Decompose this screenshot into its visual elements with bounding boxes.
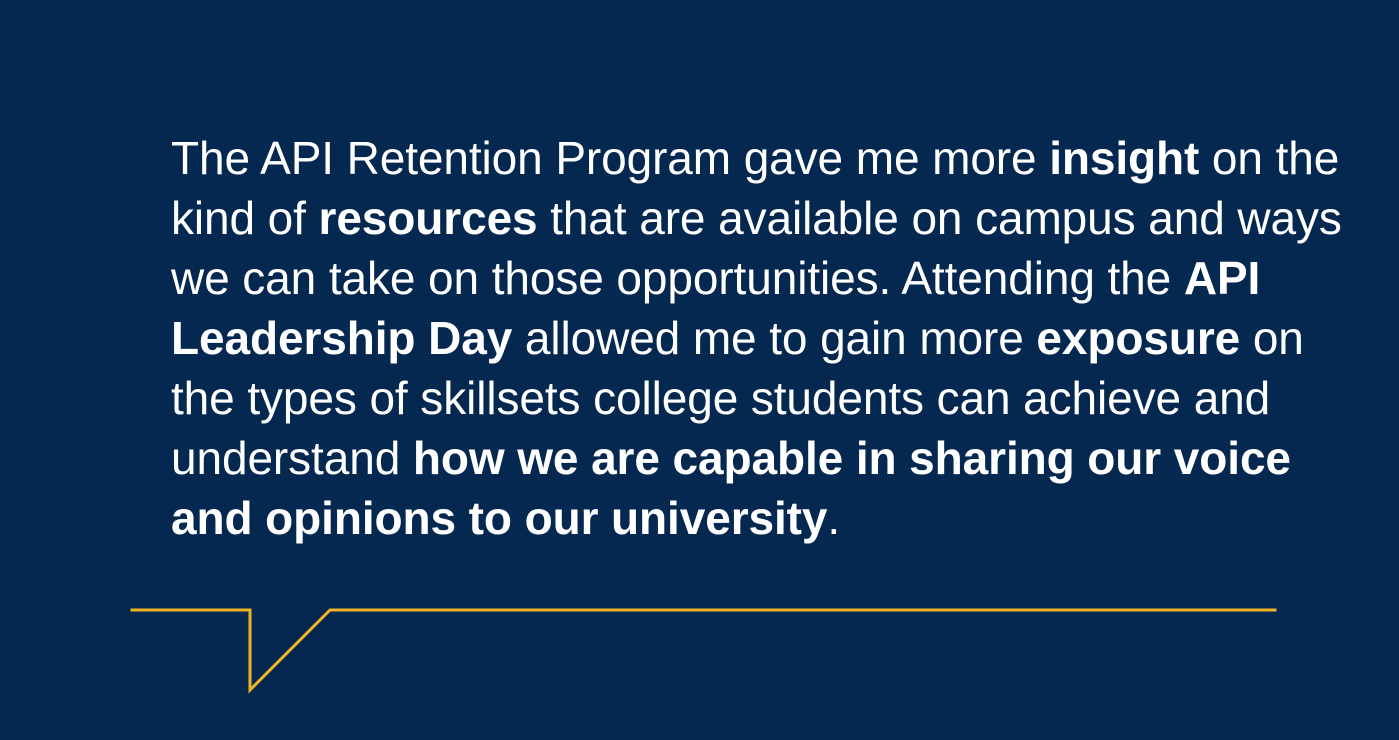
- quote-paragraph: The API Retention Program gave me more i…: [171, 128, 1346, 548]
- quote-segment-2-emphasis: insight: [1049, 132, 1199, 184]
- quote-segment-8-emphasis: exposure: [1036, 312, 1240, 364]
- quote-card: The API Retention Program gave me more i…: [0, 0, 1399, 740]
- accent-polyline: [132, 610, 1275, 690]
- quote-segment-1: The API Retention Program gave me more: [171, 132, 1049, 184]
- quote-segment-7: allowed me to gain more: [512, 312, 1036, 364]
- quote-segment-11: .: [827, 492, 840, 544]
- quote-segment-4-emphasis: resources: [319, 192, 538, 244]
- quote-text-block: The API Retention Program gave me more i…: [171, 128, 1346, 548]
